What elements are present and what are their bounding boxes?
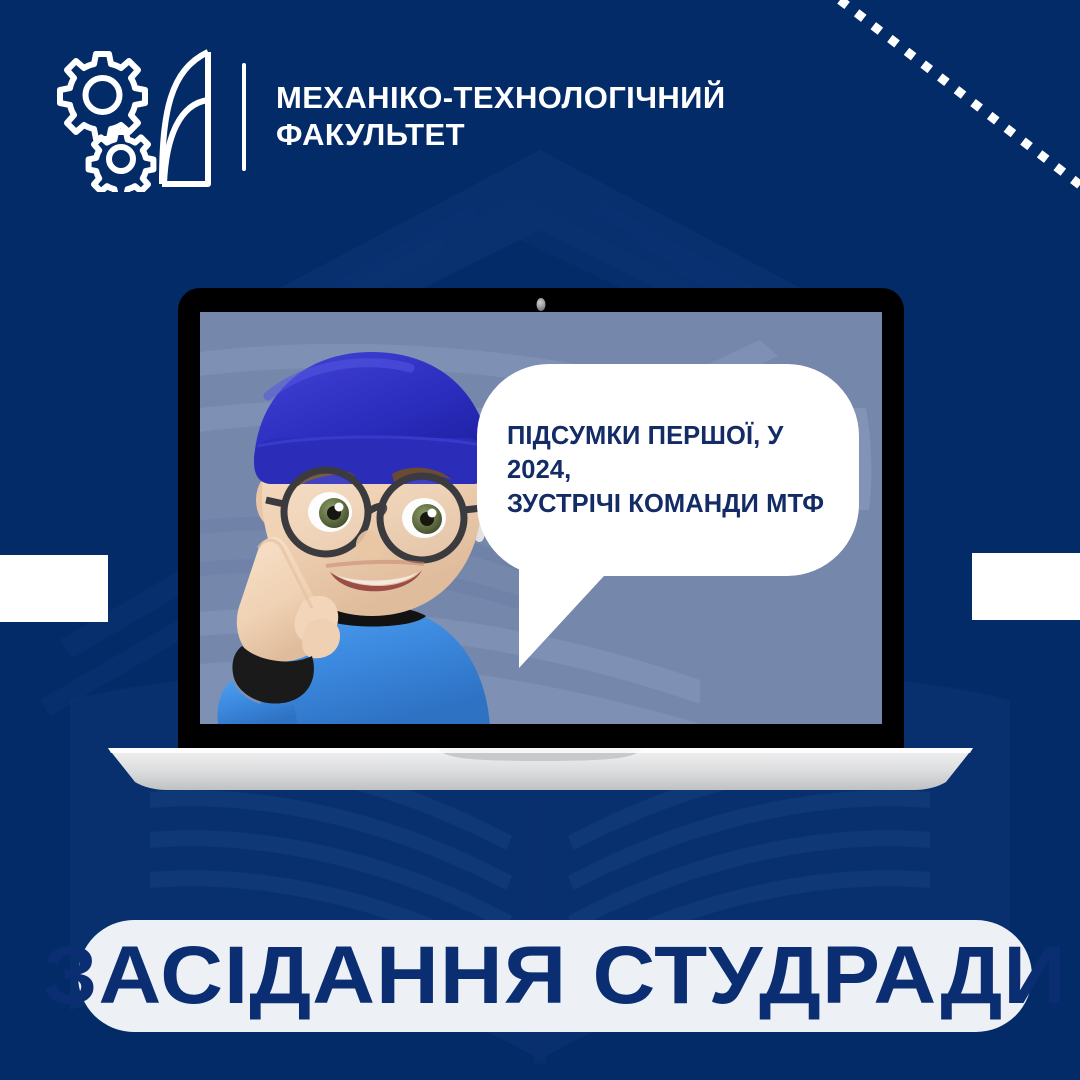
poster-canvas: МЕХАНІКО-ТЕХНОЛОГІЧНИЙ ФАКУЛЬТЕТ <box>0 0 1080 1080</box>
webcam-dot-icon <box>537 298 546 311</box>
brand-header: МЕХАНІКО-ТЕХНОЛОГІЧНИЙ ФАКУЛЬТЕТ <box>40 42 726 192</box>
faculty-title-line1: МЕХАНІКО-ТЕХНОЛОГІЧНИЙ <box>276 80 726 117</box>
right-white-tab <box>972 553 1080 620</box>
laptop-lid: ПІДСУМКИ ПЕРШОЇ, У 2024, ЗУСТРІЧІ КОМАНД… <box>178 288 904 750</box>
dotted-diagonal-line-icon <box>780 0 1080 230</box>
speech-bubble-line2: ЗУСТРІЧІ КОМАНДИ МТФ <box>507 487 824 521</box>
banner-title: ЗАСІДАННЯ СТУДРАДИ <box>43 929 1067 1023</box>
gears-and-leaf-icon <box>40 42 230 192</box>
speech-bubble: ПІДСУМКИ ПЕРШОЇ, У 2024, ЗУСТРІЧІ КОМАНД… <box>477 364 859 674</box>
laptop-screen: ПІДСУМКИ ПЕРШОЇ, У 2024, ЗУСТРІЧІ КОМАНД… <box>200 312 882 724</box>
speech-bubble-tail-icon <box>519 560 649 676</box>
faculty-title-line2: ФАКУЛЬТЕТ <box>276 117 726 154</box>
left-white-tab <box>0 555 108 622</box>
speech-bubble-text: ПІДСУМКИ ПЕРШОЇ, У 2024, ЗУСТРІЧІ КОМАНД… <box>477 364 859 576</box>
bottom-banner: ЗАСІДАННЯ СТУДРАДИ <box>78 920 1032 1032</box>
laptop-base <box>108 748 973 790</box>
faculty-title: МЕХАНІКО-ТЕХНОЛОГІЧНИЙ ФАКУЛЬТЕТ <box>276 80 726 153</box>
laptop-mockup: ПІДСУМКИ ПЕРШОЇ, У 2024, ЗУСТРІЧІ КОМАНД… <box>108 288 973 790</box>
speech-bubble-line1: ПІДСУМКИ ПЕРШОЇ, У 2024, <box>507 419 829 487</box>
logo-divider <box>242 63 246 171</box>
